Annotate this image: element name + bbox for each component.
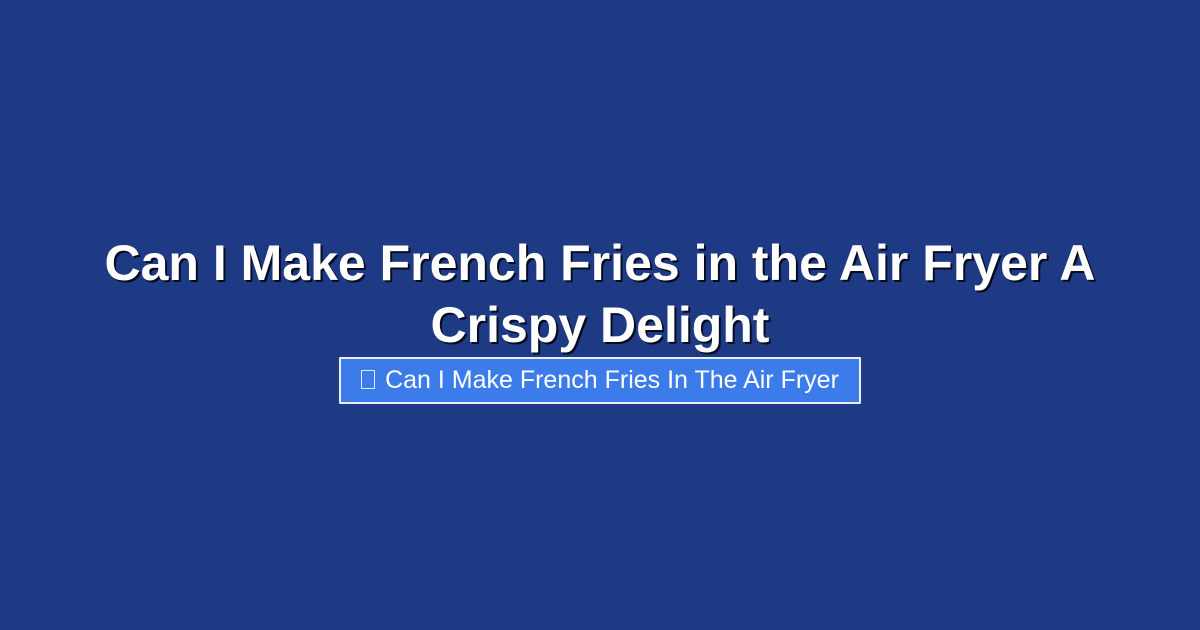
cta-button-label: Can I Make French Fries In The Air Fryer [385,368,839,393]
missing-glyph-box-icon [361,370,375,389]
cta-row: Can I Make French Fries In The Air Fryer [0,357,1200,404]
cta-button[interactable]: Can I Make French Fries In The Air Fryer [339,357,861,404]
page-title: Can I Make French Fries in the Air Fryer… [60,232,1140,356]
og-preview-card: Can I Make French Fries in the Air Fryer… [0,0,1200,630]
